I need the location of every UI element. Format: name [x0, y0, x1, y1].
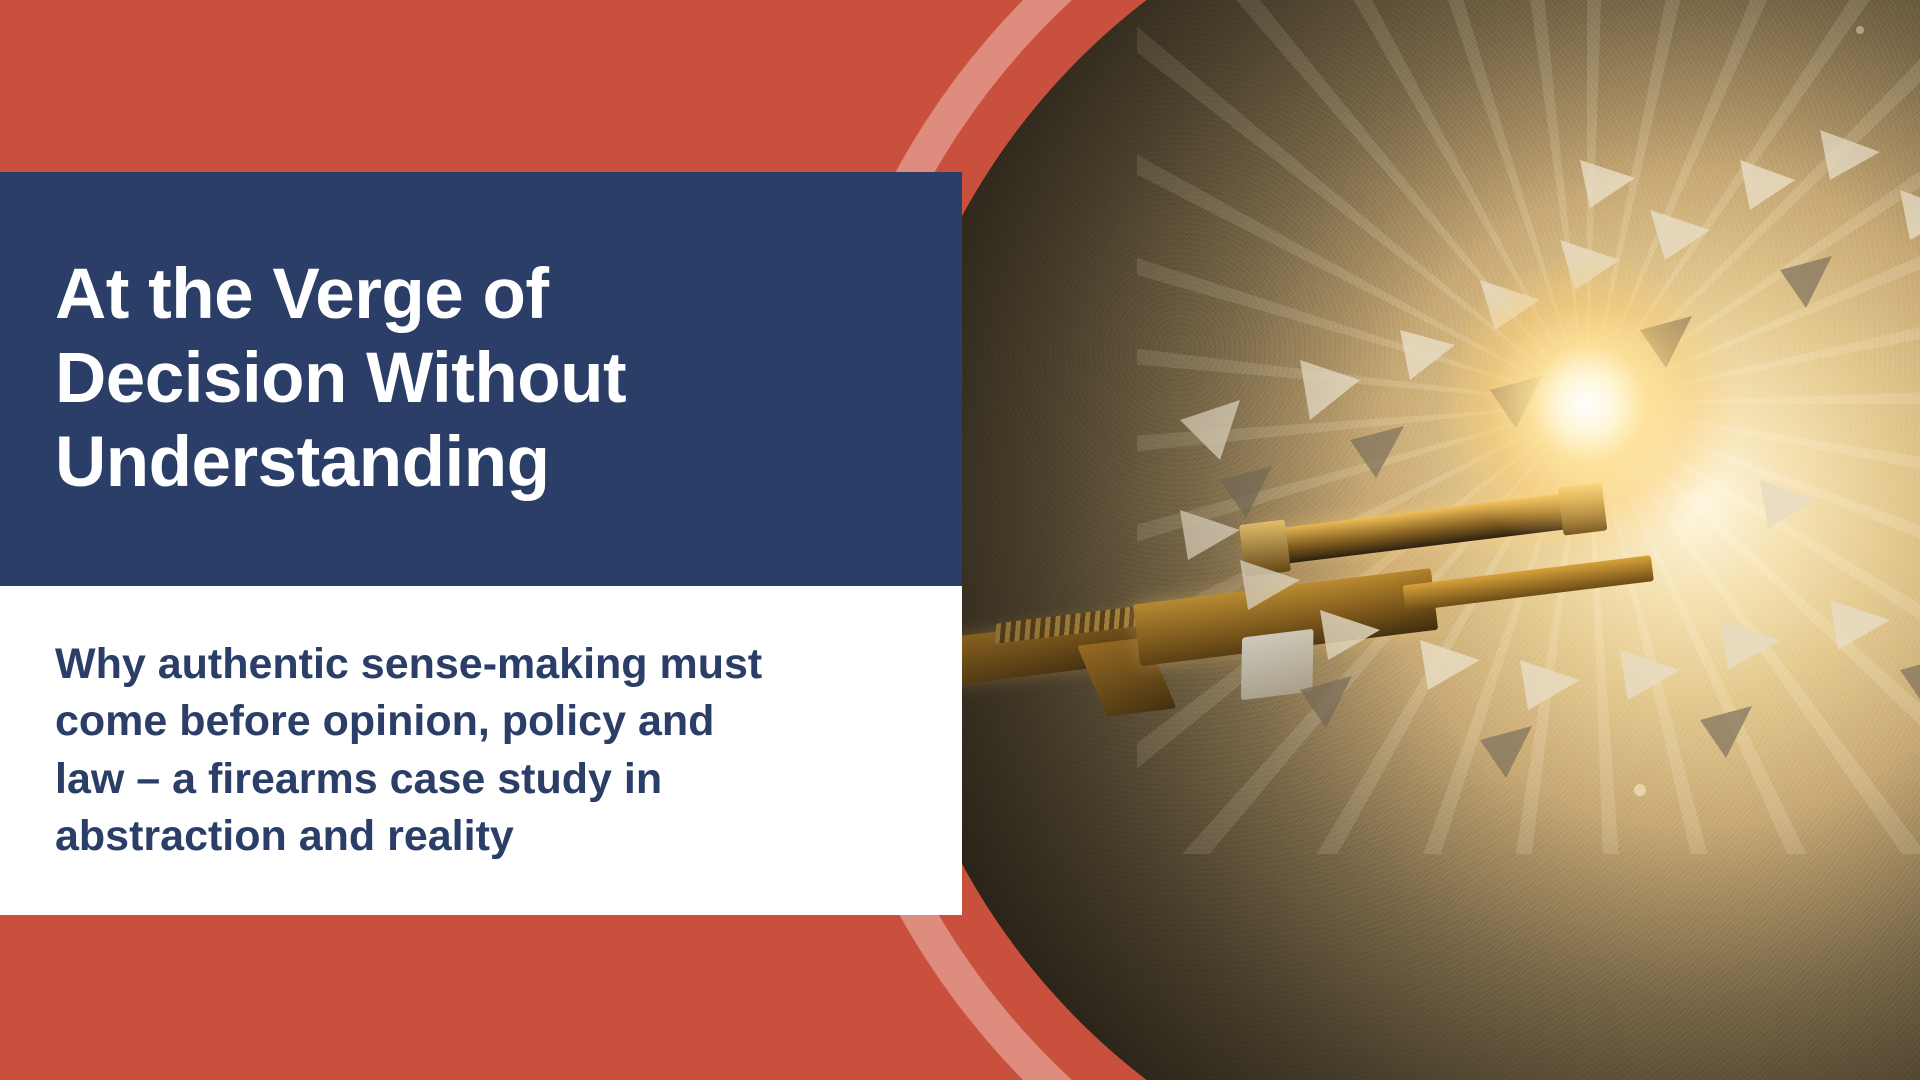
page-title: At the Verge of Decision Without Underst…: [0, 253, 795, 504]
hero-image-circle: [880, 0, 1920, 1080]
image-vignette: [880, 0, 1920, 1080]
page-subtitle: Why authentic sense-making must come bef…: [0, 636, 815, 865]
title-card: At the Verge of Decision Without Underst…: [0, 172, 962, 586]
slide-canvas: At the Verge of Decision Without Underst…: [0, 0, 1920, 1080]
subtitle-card: Why authentic sense-making must come bef…: [0, 586, 962, 915]
shattering-rifle-lightburst-image: [880, 0, 1920, 1080]
